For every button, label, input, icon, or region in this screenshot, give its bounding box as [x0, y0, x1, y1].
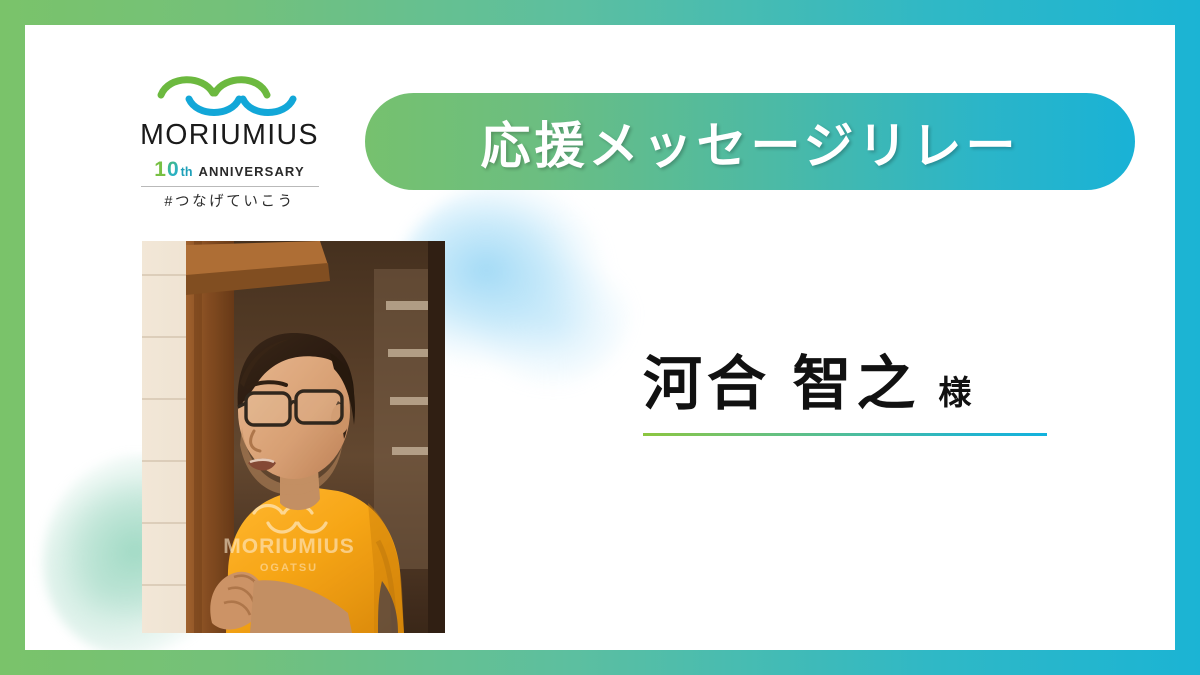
recipient-name-block: 河合 智之 様: [643, 355, 1047, 436]
title-text: 応援メッセージリレー: [481, 106, 1020, 178]
logo-tagline: #つなげていこう: [127, 195, 332, 210]
anniversary-digit-zero: 0: [167, 159, 179, 180]
white-content-card: MORIUMIUS 1 0 th ANNIVERSARY #つなげていこう 応援…: [25, 25, 1175, 650]
moriumius-arcs-mark-icon: [127, 69, 332, 119]
moriumius-logo: MORIUMIUS 1 0 th ANNIVERSARY #つなげていこう: [127, 69, 332, 209]
logo-anniversary-line: 1 0 th ANNIVERSARY: [127, 159, 332, 179]
anniversary-ordinal-suffix: th: [181, 166, 193, 179]
person-photo: MORIUMIUS OGATSU: [142, 241, 445, 633]
title-banner: 応援メッセージリレー: [365, 93, 1135, 190]
logo-wordmark: MORIUMIUS: [127, 121, 332, 150]
recipient-name-underline: [643, 433, 1047, 436]
person-photo-image: MORIUMIUS OGATSU: [142, 241, 445, 633]
anniversary-digit-one: 1: [154, 159, 166, 180]
recipient-name-line: 河合 智之 様: [643, 355, 1047, 427]
anniversary-label: ANNIVERSARY: [198, 165, 304, 178]
recipient-honorific: 様: [938, 376, 971, 409]
recipient-full-name: 河合 智之: [643, 355, 920, 414]
slide-root: MORIUMIUS 1 0 th ANNIVERSARY #つなげていこう 応援…: [0, 0, 1200, 675]
logo-divider: [141, 186, 319, 187]
